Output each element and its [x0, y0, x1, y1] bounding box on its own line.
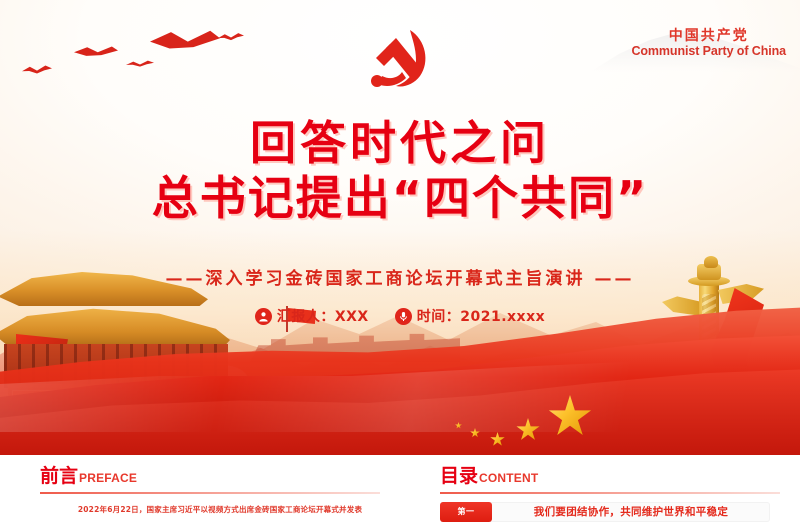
- microphone-icon: [395, 308, 412, 325]
- meta-presenter-label: 汇报人：XXX: [277, 306, 369, 326]
- preface-title-en: PREFACE: [79, 471, 137, 485]
- person-icon: [255, 308, 272, 325]
- preface-panel: 前言 PREFACE 2022年6月22日，国家主席习近平以视频方式出席金砖国家…: [40, 455, 400, 515]
- title-line-2: 总书记提出“四个共同”: [0, 170, 800, 226]
- meta-presenter: 汇报人：XXX: [255, 306, 369, 326]
- toc-item-1[interactable]: 第一 我们要团结协作，共同维护世界和平稳定: [440, 502, 770, 522]
- subtitle: ——深入学习金砖国家工商论坛开幕式主旨演讲 ——: [0, 264, 800, 289]
- content-panel: 目录 CONTENT 第一 我们要团结协作，共同维护世界和平稳定: [440, 455, 800, 522]
- flying-birds-icon: [22, 24, 252, 94]
- hero-section: 中华人民共和国万岁 世界人民大团结万岁: [0, 0, 800, 455]
- preface-title-cn: 前言: [40, 461, 78, 488]
- content-underline: [440, 492, 780, 494]
- party-name-en: Communist Party of China: [631, 44, 786, 59]
- title-line-1: 回答时代之问: [0, 116, 800, 170]
- preface-underline: [40, 492, 380, 494]
- meta-row: 汇报人：XXX 时间：2021.xxxx: [0, 306, 800, 326]
- bottom-panels: 前言 PREFACE 2022年6月22日，国家主席习近平以视频方式出席金砖国家…: [0, 455, 800, 526]
- meta-time-label: 时间：2021.xxxx: [417, 306, 545, 326]
- slide-page: 中华人民共和国万岁 世界人民大团结万岁: [0, 0, 800, 526]
- hammer-sickle-emblem: [364, 26, 436, 92]
- title-block: 回答时代之问 总书记提出“四个共同”: [0, 116, 800, 226]
- toc-item-1-text: 我们要团结协作，共同维护世界和平稳定: [492, 504, 770, 519]
- meta-time: 时间：2021.xxxx: [395, 306, 545, 326]
- party-name-cn: 中国共产党: [631, 28, 786, 44]
- party-brand-block: 中国共产党 Communist Party of China: [631, 28, 786, 59]
- preface-body-text: 2022年6月22日，国家主席习近平以视频方式出席金砖国家工商论坛开幕式并发表: [40, 504, 400, 515]
- toc-item-1-number: 第一: [440, 502, 492, 522]
- content-heading: 目录 CONTENT: [440, 455, 800, 488]
- content-title-cn: 目录: [440, 461, 478, 488]
- content-title-en: CONTENT: [479, 471, 538, 485]
- preface-heading: 前言 PREFACE: [40, 455, 400, 488]
